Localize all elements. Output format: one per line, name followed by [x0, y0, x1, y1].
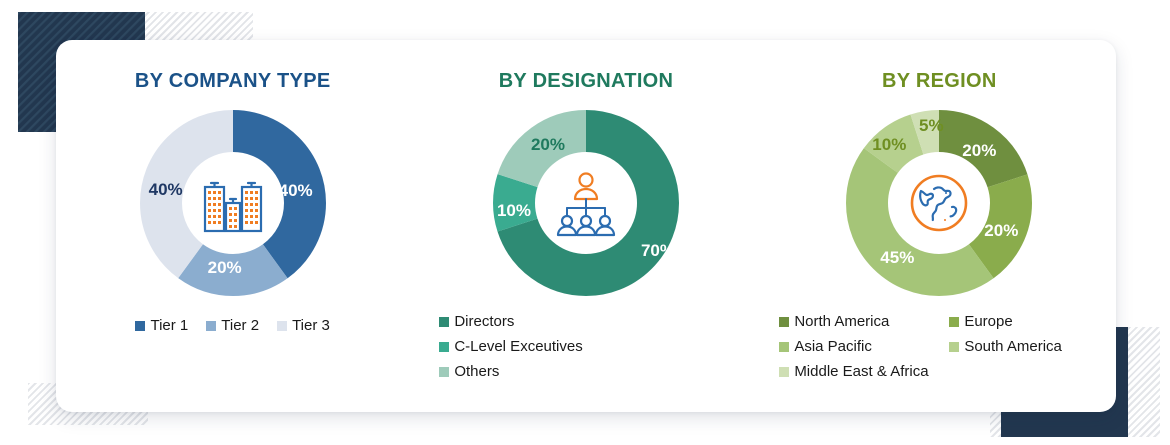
legend-label: Europe [964, 313, 1012, 330]
donut-svg-designation [486, 103, 686, 303]
legend-item-directors[interactable]: Directors [439, 313, 762, 330]
legend-label: Tier 1 [150, 317, 188, 334]
legend-swatch-icon [949, 342, 959, 352]
legend-designation: Directors C-Level Exceutives Others [409, 313, 762, 380]
legend-swatch-icon [779, 317, 789, 327]
legend-item-north-america[interactable]: North America [779, 313, 939, 330]
legend-swatch-icon [439, 342, 449, 352]
legend-label: C-Level Exceutives [454, 338, 582, 355]
legend-item-tier-1[interactable]: Tier 1 [135, 317, 188, 334]
donut-svg-region [839, 103, 1039, 303]
panel-title-region: BY REGION [763, 70, 1116, 93]
legend-item-asia-pacific[interactable]: Asia Pacific [779, 338, 939, 355]
legend-swatch-icon [779, 367, 789, 377]
legend-swatch-icon [439, 367, 449, 377]
donut-svg-company-type [133, 103, 333, 303]
panel-by-company-type: BY COMPANY TYPE 40% 20% 40% [56, 40, 409, 412]
legend-label: South America [964, 338, 1062, 355]
legend-swatch-icon [779, 342, 789, 352]
legend-swatch-icon [206, 321, 216, 331]
legend-item-middle-east-africa[interactable]: Middle East & Africa [779, 363, 939, 380]
legend-item-south-america[interactable]: South America [949, 338, 1109, 355]
donut-chart-designation: 70% 10% 20% [486, 103, 686, 303]
legend-company-type: Tier 1 Tier 2 Tier 3 [56, 317, 409, 334]
legend-label: Others [454, 363, 499, 380]
legend-swatch-icon [439, 317, 449, 327]
legend-item-tier-3[interactable]: Tier 3 [277, 317, 330, 334]
legend-label: Tier 2 [221, 317, 259, 334]
legend-item-others[interactable]: Others [439, 363, 762, 380]
legend-swatch-icon [135, 321, 145, 331]
infographic-card: BY COMPANY TYPE 40% 20% 40% [56, 40, 1116, 412]
donut-chart-region: 20% 20% 45% 10% 5% [839, 103, 1039, 303]
legend-item-europe[interactable]: Europe [949, 313, 1109, 330]
legend-region: North America Europe Asia Pacific South … [763, 313, 1116, 380]
legend-label: Tier 3 [292, 317, 330, 334]
legend-label: North America [794, 313, 889, 330]
legend-label: Directors [454, 313, 514, 330]
legend-label: Middle East & Africa [794, 363, 928, 380]
legend-swatch-icon [277, 321, 287, 331]
legend-item-tier-2[interactable]: Tier 2 [206, 317, 259, 334]
panel-title-designation: BY DESIGNATION [409, 70, 762, 93]
panel-by-region: BY REGION 20% 20% 45% 10% 5% [763, 40, 1116, 412]
panel-by-designation: BY DESIGNATION 70% 10% 20% [409, 40, 762, 412]
legend-swatch-icon [949, 317, 959, 327]
donut-chart-company-type: 40% 20% 40% [133, 103, 333, 303]
legend-item-c-level-executives[interactable]: C-Level Exceutives [439, 338, 762, 355]
legend-label: Asia Pacific [794, 338, 872, 355]
panel-title-company-type: BY COMPANY TYPE [56, 70, 409, 93]
